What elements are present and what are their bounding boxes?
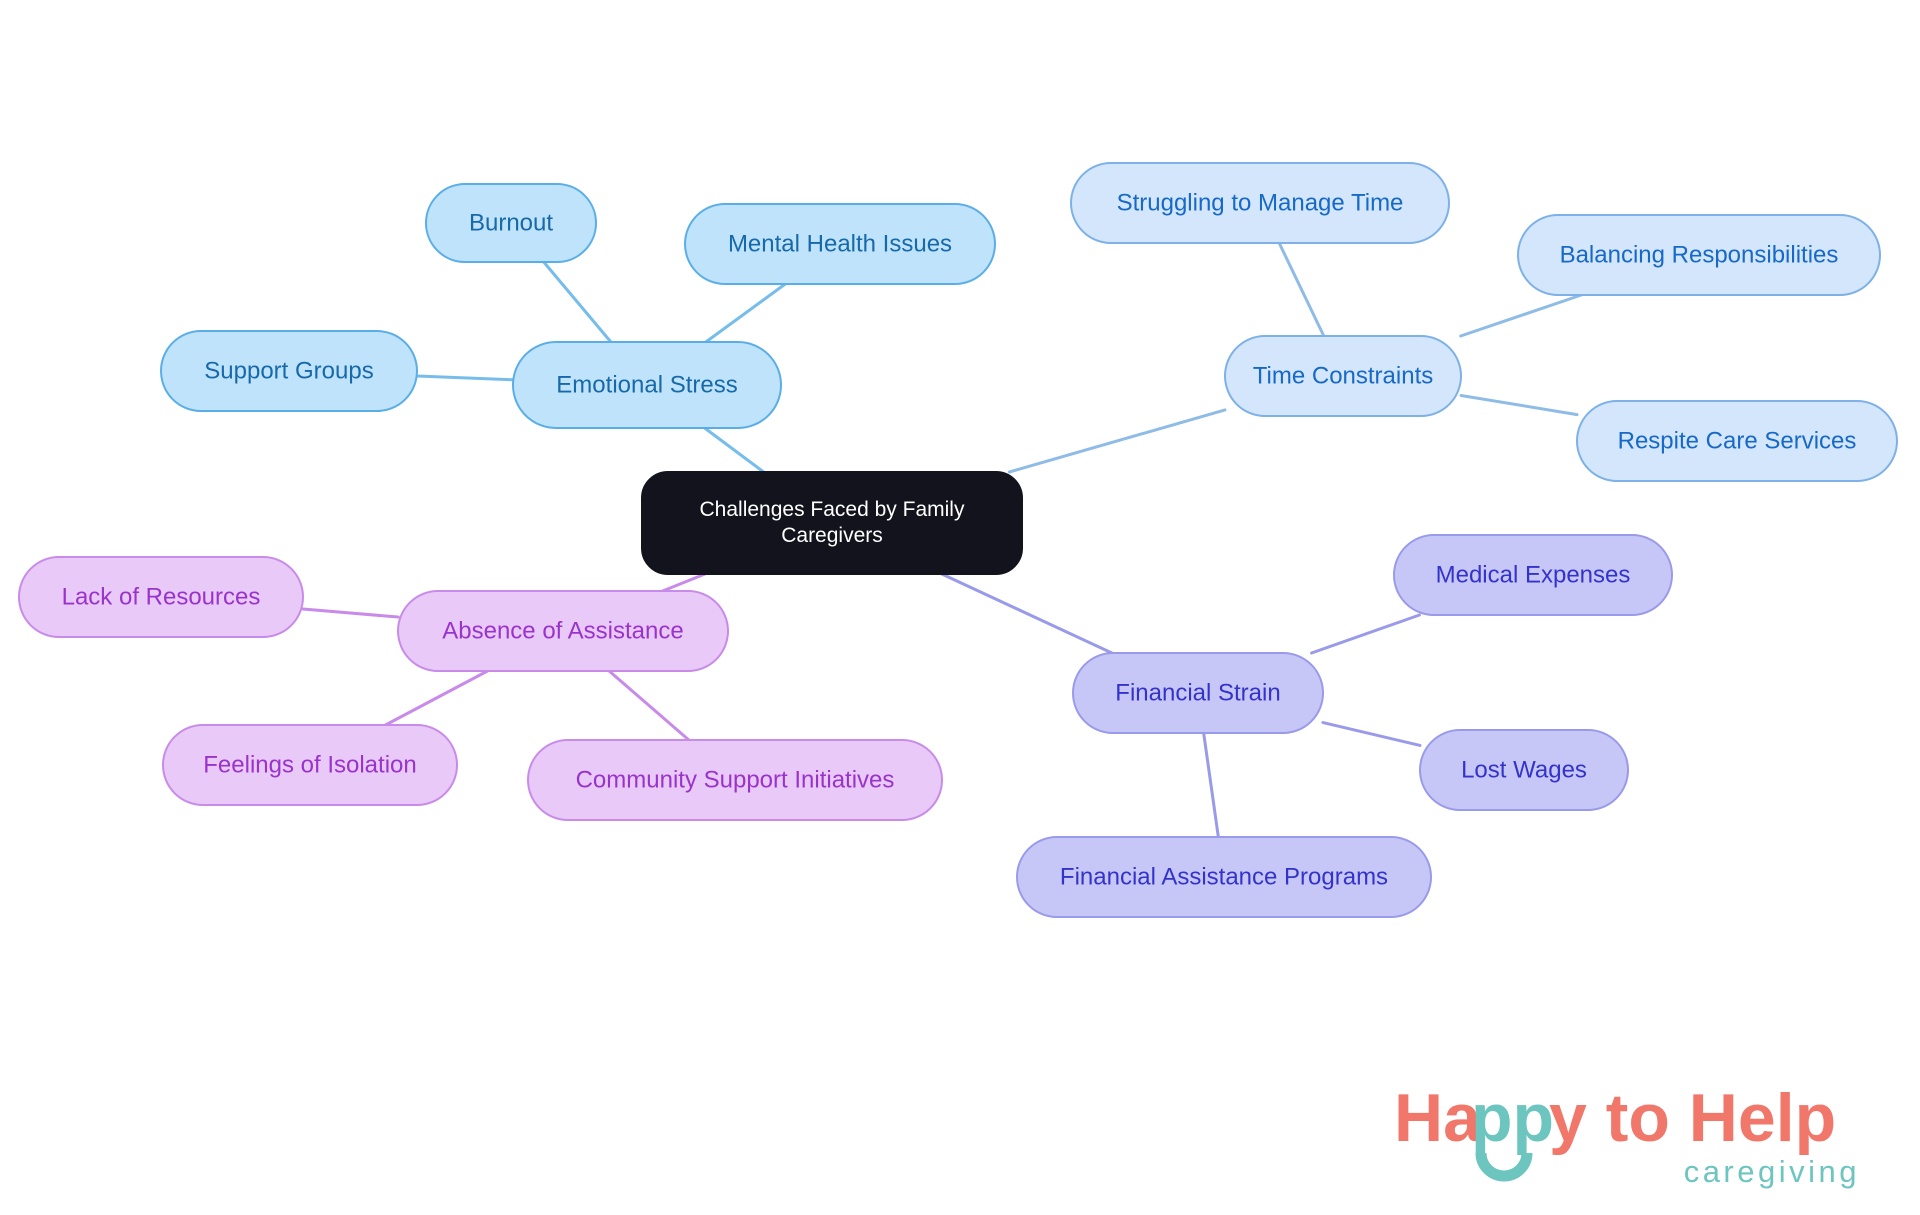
mindmap-node-lack-of-resources-label: Lack of Resources [62, 583, 261, 610]
mindmap-node-time-constraints-label: Time Constraints [1253, 362, 1434, 389]
mindmap-node-financial-assistance-programs[interactable]: Financial Assistance Programs [1017, 837, 1431, 917]
connector-emotional-stress-to-mental-health-issues [706, 284, 785, 342]
connector-time-constraints-to-respite-care-services [1461, 395, 1577, 414]
mindmap-node-lost-wages-label: Lost Wages [1461, 756, 1587, 783]
connector-root-to-emotional-stress [705, 428, 764, 472]
mindmap-diagram: Challenges Faced by FamilyCaregiversEmot… [0, 0, 1920, 1215]
node-layer: Challenges Faced by FamilyCaregiversEmot… [19, 163, 1897, 917]
connector-root-to-financial-strain [942, 574, 1112, 653]
mindmap-node-root[interactable]: Challenges Faced by FamilyCaregivers [642, 472, 1022, 574]
mindmap-node-feelings-of-isolation-label: Feelings of Isolation [203, 751, 416, 778]
mindmap-node-respite-care-services-label: Respite Care Services [1618, 427, 1857, 454]
logo-text-happy-part2: pp [1471, 1080, 1554, 1156]
brand-logo: Ha pp y to Help caregiving [1394, 1065, 1864, 1195]
mindmap-node-balancing-responsibilities-label: Balancing Responsibilities [1560, 241, 1839, 268]
connector-financial-strain-to-lost-wages [1323, 723, 1420, 746]
connector-absence-of-assistance-to-lack-of-resources [303, 609, 398, 617]
mindmap-node-burnout-label: Burnout [469, 209, 553, 236]
mindmap-node-struggling-to-manage-time[interactable]: Struggling to Manage Time [1071, 163, 1449, 243]
mindmap-node-community-support-initiatives-label: Community Support Initiatives [576, 766, 895, 793]
mindmap-node-financial-strain-label: Financial Strain [1115, 679, 1280, 706]
mindmap-node-emotional-stress[interactable]: Emotional Stress [513, 342, 781, 428]
logo-text-happy-part1: Ha [1394, 1080, 1482, 1156]
mindmap-node-medical-expenses-label: Medical Expenses [1436, 561, 1631, 588]
connector-financial-strain-to-financial-assistance-programs [1204, 733, 1219, 837]
mindmap-node-medical-expenses[interactable]: Medical Expenses [1394, 535, 1672, 615]
mindmap-node-lost-wages[interactable]: Lost Wages [1420, 730, 1628, 810]
mindmap-node-support-groups-label: Support Groups [204, 357, 373, 384]
mindmap-node-financial-assistance-programs-label: Financial Assistance Programs [1060, 863, 1388, 890]
connector-financial-strain-to-medical-expenses [1312, 615, 1420, 653]
mindmap-node-burnout[interactable]: Burnout [426, 184, 596, 262]
mindmap-node-mental-health-issues[interactable]: Mental Health Issues [685, 204, 995, 284]
connector-root-to-time-constraints [1009, 410, 1225, 472]
connector-emotional-stress-to-burnout [544, 262, 611, 342]
connector-time-constraints-to-struggling-to-manage-time [1279, 243, 1324, 336]
mindmap-node-feelings-of-isolation[interactable]: Feelings of Isolation [163, 725, 457, 805]
connector-root-to-absence-of-assistance [663, 574, 705, 591]
connector-absence-of-assistance-to-community-support-initiatives [609, 671, 689, 740]
logo-text-caregiving: caregiving [1684, 1154, 1860, 1189]
mindmap-node-emotional-stress-label: Emotional Stress [556, 371, 737, 398]
mindmap-node-absence-of-assistance[interactable]: Absence of Assistance [398, 591, 728, 671]
mindmap-node-absence-of-assistance-label: Absence of Assistance [442, 617, 683, 644]
mindmap-node-mental-health-issues-label: Mental Health Issues [728, 230, 952, 257]
logo-text-happy-part3: y to Help [1549, 1080, 1836, 1156]
connector-absence-of-assistance-to-feelings-of-isolation [386, 671, 488, 725]
mindmap-node-respite-care-services[interactable]: Respite Care Services [1577, 401, 1897, 481]
mindmap-node-community-support-initiatives[interactable]: Community Support Initiatives [528, 740, 942, 820]
mindmap-node-balancing-responsibilities[interactable]: Balancing Responsibilities [1518, 215, 1880, 295]
connector-time-constraints-to-balancing-responsibilities [1461, 295, 1582, 336]
mindmap-node-time-constraints[interactable]: Time Constraints [1225, 336, 1461, 416]
mindmap-node-financial-strain[interactable]: Financial Strain [1073, 653, 1323, 733]
smile-arc-icon [1481, 1153, 1527, 1176]
connector-emotional-stress-to-support-groups [417, 376, 513, 380]
mindmap-node-struggling-to-manage-time-label: Struggling to Manage Time [1117, 189, 1404, 216]
mindmap-node-lack-of-resources[interactable]: Lack of Resources [19, 557, 303, 637]
mindmap-node-support-groups[interactable]: Support Groups [161, 331, 417, 411]
